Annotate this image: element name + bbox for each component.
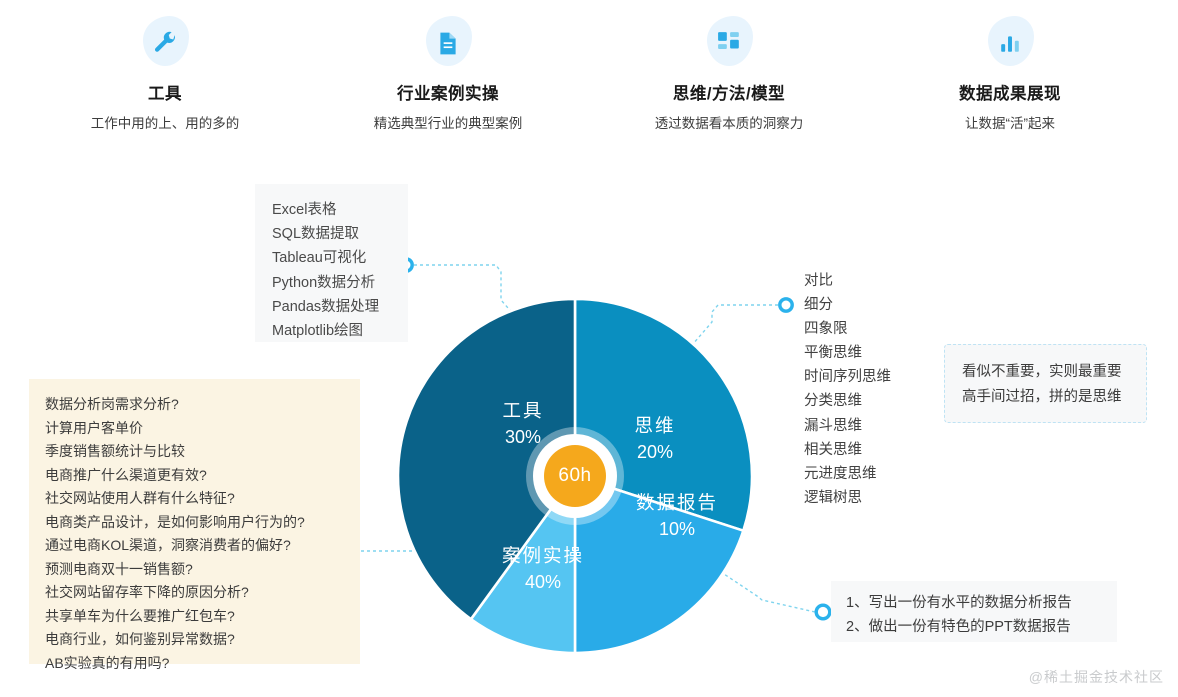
feature-card-thinking-models: 思维/方法/模型 透过数据看本质的洞察力 [629,14,829,133]
list-item: 季度销售额统计与比较 [45,440,360,464]
list-item: 电商类产品设计，是如何影响用户行为的? [45,511,360,535]
list-item: 细分 [804,293,924,317]
report-outcomes-panel: 1、写出一份有水平的数据分析报告 2、做出一份有特色的PPT数据报告 [831,581,1117,642]
slice-value: 20% [610,441,700,464]
donut-chart: 60h 工具 30% 思维 20% 数据报告 10% 案例实操 40% [398,299,752,653]
feature-subtitle: 透过数据看本质的洞察力 [629,115,829,133]
wrench-icon [135,14,195,72]
feature-card-tools: 工具 工作中用的上、用的多的 [65,14,265,133]
list-item: 四象限 [804,317,924,341]
list-item: 相关思维 [804,438,924,462]
list-item: 平衡思维 [804,341,924,365]
document-icon [418,14,478,72]
connector-node-thinking [780,299,792,311]
list-item: Excel表格 [272,198,408,222]
list-item: 时间序列思维 [804,365,924,389]
slice-label-report: 数据报告 10% [622,491,732,541]
list-item: 漏斗思维 [804,414,924,438]
slice-label-cases: 案例实操 40% [483,544,603,594]
thinking-note-panel: 看似不重要，实则最重要 高手间过招，拼的是思维 [944,344,1147,423]
tools-list-panel: Excel表格 SQL数据提取 Tableau可视化 Python数据分析 Pa… [255,184,408,342]
list-item: 计算用户客单价 [45,417,360,441]
cases-list-panel: 数据分析岗需求分析? 计算用户客单价 季度销售额统计与比较 电商推广什么渠道更有… [29,379,360,664]
list-item: 电商推广什么渠道更有效? [45,464,360,488]
list-item: 共享单车为什么要推广红包车? [45,605,360,629]
list-item: Pandas数据处理 [272,295,408,319]
thinking-list-panel: 对比 细分 四象限 平衡思维 时间序列思维 分类思维 漏斗思维 相关思维 元进度… [804,269,924,509]
feature-card-data-results: 数据成果展现 让数据“活”起来 [910,14,1110,133]
list-item: 元进度思维 [804,462,924,486]
slice-name: 数据报告 [622,491,732,515]
connector-node-report [816,605,830,619]
list-item: 逻辑树思 [804,486,924,510]
list-item: 数据分析岗需求分析? [45,393,360,417]
list-item: AB实验真的有用吗? [45,652,360,676]
bar-chart-icon [980,14,1040,72]
feature-subtitle: 工作中用的上、用的多的 [65,115,265,133]
feature-title: 思维/方法/模型 [629,84,829,104]
infographic-root: 工具 工作中用的上、用的多的 行业案例实操 精选典型行业的典型案例 [0,0,1178,697]
grid-blocks-icon [699,14,759,72]
feature-title: 数据成果展现 [910,84,1110,104]
hub-center-label: 60h [544,445,606,507]
list-item: Python数据分析 [272,271,408,295]
list-item: 电商行业，如何鉴别异常数据? [45,628,360,652]
list-item: 对比 [804,269,924,293]
feature-card-industry-cases: 行业案例实操 精选典型行业的典型案例 [348,14,548,133]
list-item: Tableau可视化 [272,246,408,270]
feature-title: 行业案例实操 [348,84,548,104]
slice-value: 40% [483,571,603,594]
watermark: @稀土掘金技术社区 [1029,667,1164,687]
list-item: 预测电商双十一销售额? [45,558,360,582]
list-item: 分类思维 [804,389,924,413]
slice-name: 工具 [468,399,578,423]
report-line: 1、写出一份有水平的数据分析报告 [846,591,1117,615]
list-item: 通过电商KOL渠道，洞察消费者的偏好? [45,534,360,558]
slice-name: 思维 [610,414,700,438]
slice-value: 10% [622,518,732,541]
feature-subtitle: 精选典型行业的典型案例 [348,115,548,133]
feature-title: 工具 [65,84,265,104]
slice-value: 30% [468,426,578,449]
list-item: SQL数据提取 [272,222,408,246]
report-line: 2、做出一份有特色的PPT数据报告 [846,615,1117,639]
list-item: Matplotlib绘图 [272,319,408,343]
list-item: 社交网站留存率下降的原因分析? [45,581,360,605]
slice-label-tools: 工具 30% [468,399,578,449]
slice-name: 案例实操 [483,544,603,568]
note-line: 看似不重要，实则最重要 [962,360,1146,385]
feature-subtitle: 让数据“活”起来 [910,115,1110,133]
list-item: 社交网站使用人群有什么特征? [45,487,360,511]
slice-label-thinking: 思维 20% [610,414,700,464]
note-line: 高手间过招，拼的是思维 [962,385,1146,410]
